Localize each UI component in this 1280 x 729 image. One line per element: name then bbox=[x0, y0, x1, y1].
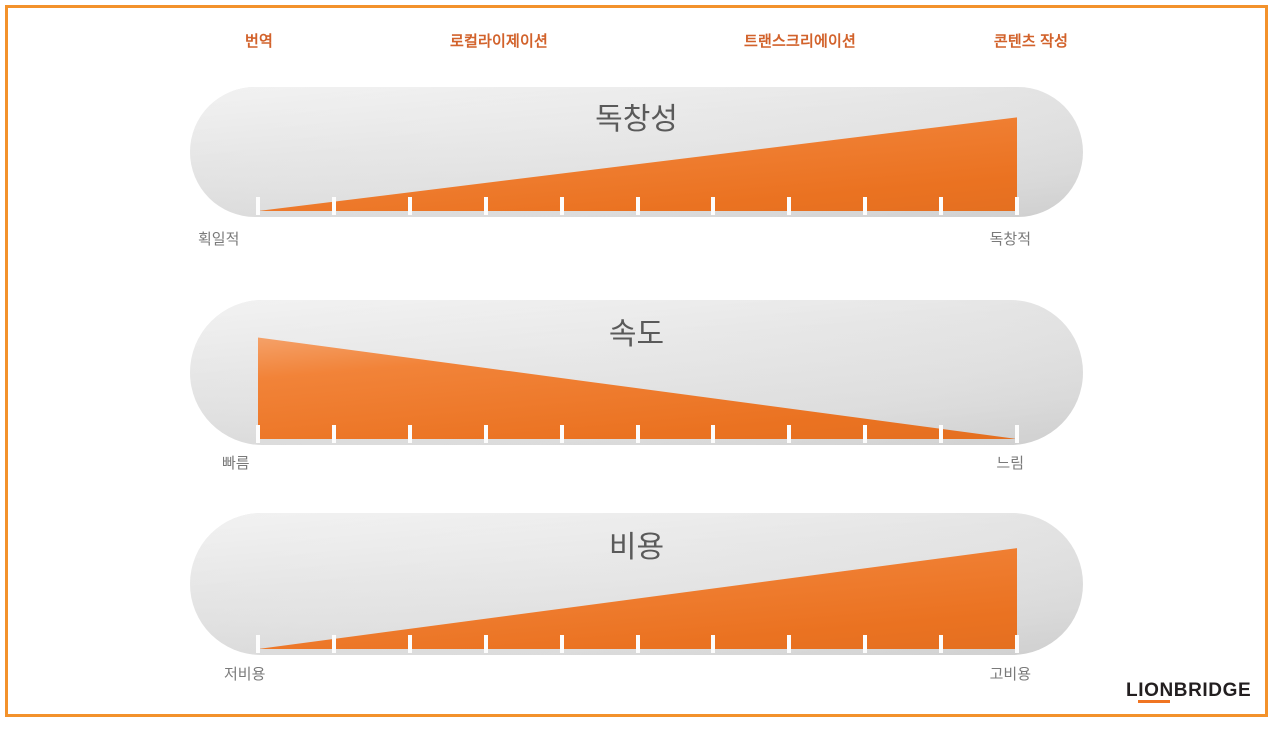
tick-mark bbox=[863, 635, 867, 653]
column-header-localization: 로컬라이제이션 bbox=[450, 31, 548, 53]
tick-mark bbox=[1015, 425, 1019, 443]
tick-mark bbox=[256, 635, 260, 653]
column-header-content-creation: 콘텐츠 작성 bbox=[994, 31, 1068, 53]
bar-group-cost: 비용 bbox=[190, 513, 1083, 655]
tick-mark bbox=[711, 635, 715, 653]
scale-label-high-speed: 느림 bbox=[996, 455, 1024, 473]
bar-group-speed: 속도 bbox=[190, 300, 1083, 445]
tick-mark bbox=[939, 425, 943, 443]
tick-mark bbox=[484, 197, 488, 215]
tick-mark bbox=[332, 425, 336, 443]
bar-title-cost: 비용 bbox=[190, 533, 1083, 563]
lionbridge-logo: LIONBRIDGE bbox=[1126, 681, 1251, 705]
scale-label-high-creativity: 독창적 bbox=[990, 231, 1031, 249]
tick-mark bbox=[787, 197, 791, 215]
tick-mark bbox=[636, 425, 640, 443]
column-header-row: 번역 로컬라이제이션 트랜스크리에이션 콘텐츠 작성 bbox=[0, 31, 1280, 57]
tick-mark bbox=[484, 635, 488, 653]
tick-mark bbox=[787, 425, 791, 443]
tick-mark bbox=[711, 197, 715, 215]
lionbridge-wordmark: LIONBRIDGE bbox=[1126, 681, 1251, 701]
tick-mark bbox=[863, 425, 867, 443]
tick-mark bbox=[332, 197, 336, 215]
scale-label-low-speed: 빠름 bbox=[222, 455, 250, 473]
bar-title-speed: 속도 bbox=[190, 320, 1083, 350]
tick-mark bbox=[256, 425, 260, 443]
tick-mark bbox=[636, 635, 640, 653]
tick-mark bbox=[408, 635, 412, 653]
lionbridge-accent-underline bbox=[1138, 700, 1170, 703]
bar-title-creativity: 독창성 bbox=[190, 105, 1083, 135]
tick-mark bbox=[711, 425, 715, 443]
tick-mark bbox=[636, 197, 640, 215]
tick-mark bbox=[1015, 635, 1019, 653]
tick-mark bbox=[332, 635, 336, 653]
tick-mark bbox=[560, 197, 564, 215]
scale-label-low-cost: 저비용 bbox=[224, 666, 265, 684]
bar-group-creativity: 독창성 bbox=[190, 87, 1083, 217]
tick-mark bbox=[560, 425, 564, 443]
tick-mark bbox=[408, 197, 412, 215]
tick-mark bbox=[484, 425, 488, 443]
tick-mark bbox=[863, 197, 867, 215]
scale-label-high-cost: 고비용 bbox=[990, 666, 1031, 684]
column-header-translation: 번역 bbox=[245, 31, 273, 53]
tick-mark bbox=[939, 197, 943, 215]
tick-mark bbox=[408, 425, 412, 443]
tick-mark bbox=[787, 635, 791, 653]
tick-mark bbox=[1015, 197, 1019, 215]
scale-label-low-creativity: 획일적 bbox=[198, 231, 239, 249]
column-header-transcreation: 트랜스크리에이션 bbox=[744, 31, 856, 53]
infographic-canvas: 번역 로컬라이제이션 트랜스크리에이션 콘텐츠 작성 독창성 획일적 독창적 속… bbox=[0, 0, 1280, 729]
tick-mark bbox=[256, 197, 260, 215]
tick-mark bbox=[560, 635, 564, 653]
tick-mark bbox=[939, 635, 943, 653]
